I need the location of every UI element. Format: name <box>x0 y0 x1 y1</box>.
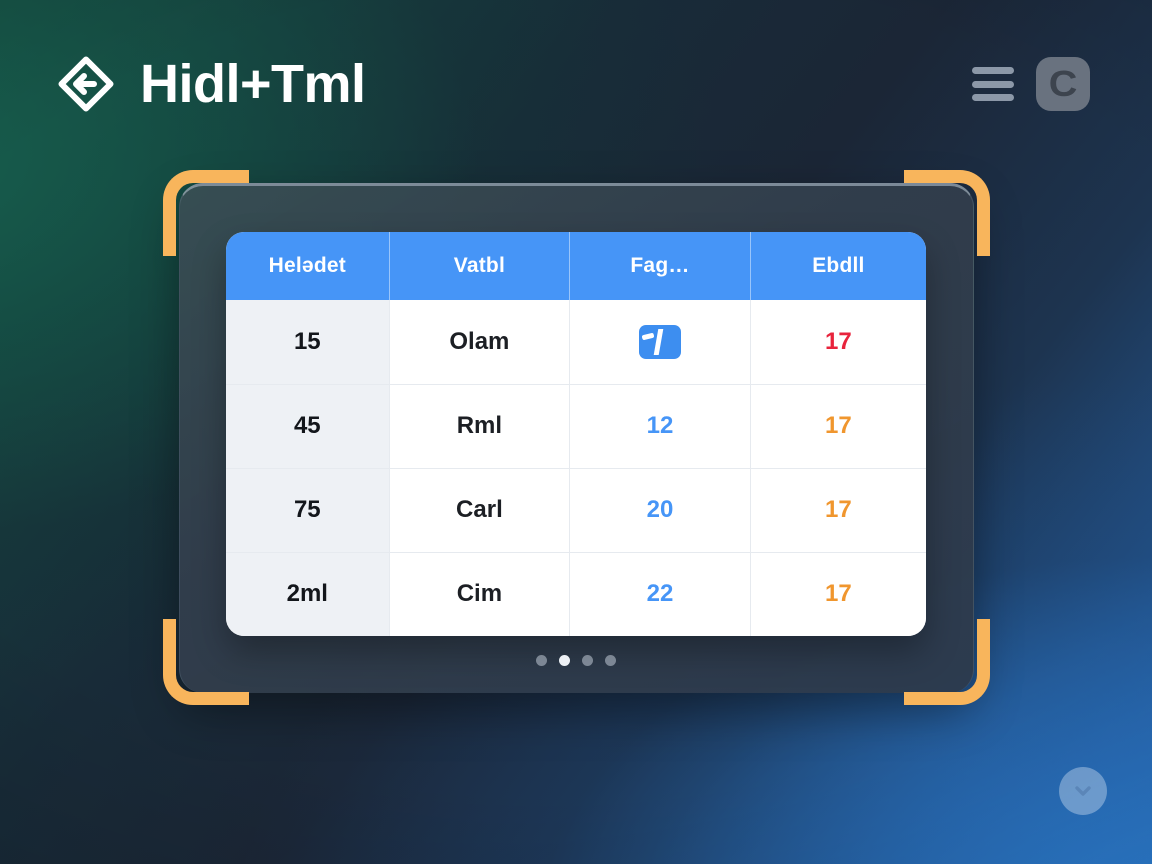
cell-col1: 45 <box>226 384 389 468</box>
column-header-4[interactable]: Ebdll <box>750 232 926 300</box>
back-arrow-diamond-icon[interactable] <box>58 56 114 112</box>
page-title: Hidl+Tml <box>140 57 366 111</box>
table-row[interactable]: 75Carl2017 <box>226 468 926 552</box>
cell-col2: Carl <box>389 468 570 552</box>
table-body: 15Olam1745Rml121775Carl20172mlCim2217 <box>226 300 926 636</box>
header-right-group: C <box>972 57 1090 111</box>
pagination-dot[interactable] <box>559 655 570 666</box>
pagination-dots <box>0 655 1152 666</box>
hamburger-menu-icon[interactable] <box>972 67 1014 101</box>
cell-col3: 22 <box>570 552 751 636</box>
cell-col1: 15 <box>226 300 389 384</box>
data-table: Helədet Vatbl Fag… Ebdll 15Olam1745Rml12… <box>226 232 926 636</box>
blue-badge-icon <box>639 325 681 359</box>
cell-col3-badge <box>570 300 751 384</box>
cell-col4: 17 <box>750 552 926 636</box>
header-left-group: Hidl+Tml <box>58 56 366 112</box>
table-header-row: Helədet Vatbl Fag… Ebdll <box>226 232 926 300</box>
cell-col2: Rml <box>389 384 570 468</box>
cell-col3: 12 <box>570 384 751 468</box>
cell-col1: 75 <box>226 468 389 552</box>
table-row[interactable]: 2mlCim2217 <box>226 552 926 636</box>
table-header: Helədet Vatbl Fag… Ebdll <box>226 232 926 300</box>
cell-col3: 20 <box>570 468 751 552</box>
table-row[interactable]: 45Rml1217 <box>226 384 926 468</box>
avatar[interactable]: C <box>1036 57 1090 111</box>
column-header-2[interactable]: Vatbl <box>389 232 570 300</box>
pagination-dot[interactable] <box>536 655 547 666</box>
scroll-down-button[interactable] <box>1059 767 1107 815</box>
cell-col4: 17 <box>750 384 926 468</box>
column-header-3[interactable]: Fag… <box>570 232 751 300</box>
pagination-dot[interactable] <box>582 655 593 666</box>
table-row[interactable]: 15Olam17 <box>226 300 926 384</box>
cell-col1: 2ml <box>226 552 389 636</box>
data-table-card: Helədet Vatbl Fag… Ebdll 15Olam1745Rml12… <box>226 232 926 636</box>
column-header-1[interactable]: Helədet <box>226 232 389 300</box>
avatar-glyph: C <box>1049 66 1078 102</box>
app-header: Hidl+Tml C <box>0 0 1152 168</box>
cell-col2: Olam <box>389 300 570 384</box>
chevron-down-icon <box>1072 780 1094 802</box>
cell-col4: 17 <box>750 468 926 552</box>
cell-col2: Cim <box>389 552 570 636</box>
menu-line-2 <box>972 81 1014 88</box>
cell-col4: 17 <box>750 300 926 384</box>
menu-line-3 <box>972 94 1014 101</box>
pagination-dot[interactable] <box>605 655 616 666</box>
menu-line-1 <box>972 67 1014 74</box>
